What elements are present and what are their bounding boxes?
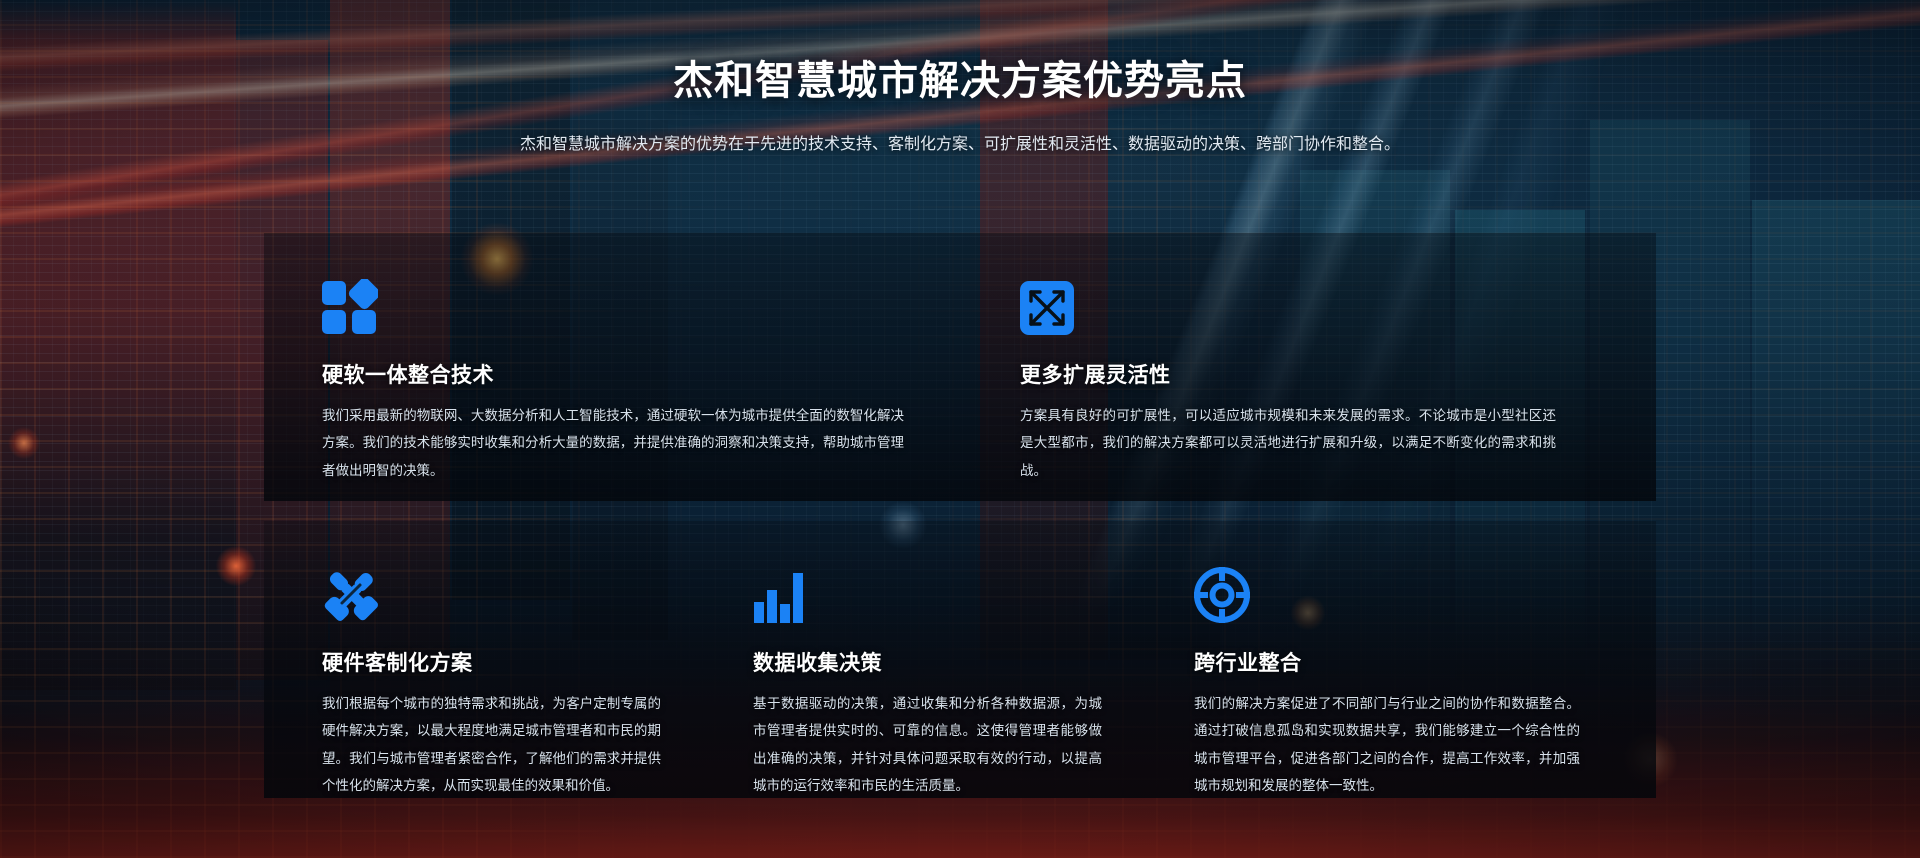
feature-card-title: 硬软一体整合技术: [322, 359, 904, 389]
feature-card-body: 我们采用最新的物联网、大数据分析和人工智能技术，通过硬软一体为城市提供全面的数智…: [322, 402, 904, 484]
four-squares-icon: [322, 273, 904, 335]
feature-card-body: 方案具有良好的可扩展性，可以适应城市规模和未来发展的需求。不论城市是小型社区还是…: [1020, 402, 1556, 484]
target-crosshair-icon: [1194, 561, 1580, 623]
feature-card-data-driven-decisions[interactable]: 数据收集决策 基于数据驱动的决策，通过收集和分析各种数据源，为城市管理者提供实时…: [705, 521, 1146, 798]
feature-card-body: 我们的解决方案促进了不同部门与行业之间的协作和数据整合。通过打破信息孤岛和实现数…: [1194, 690, 1580, 799]
feature-card-hardware-software-integration[interactable]: 硬软一体整合技术 我们采用最新的物联网、大数据分析和人工智能技术，通过硬软一体为…: [264, 233, 960, 501]
feature-panel-bottom: 硬件客制化方案 我们根据每个城市的独特需求和挑战，为客户定制专属的硬件解决方案，…: [264, 521, 1656, 798]
crossed-tools-icon: [322, 561, 661, 623]
feature-card-body: 我们根据每个城市的独特需求和挑战，为客户定制专属的硬件解决方案，以最大程度地满足…: [322, 690, 661, 799]
feature-panel-top: 硬软一体整合技术 我们采用最新的物联网、大数据分析和人工智能技术，通过硬软一体为…: [264, 233, 1656, 501]
feature-card-title: 更多扩展灵活性: [1020, 359, 1556, 389]
feature-card-cross-industry-integration[interactable]: 跨行业整合 我们的解决方案促进了不同部门与行业之间的协作和数据整合。通过打破信息…: [1146, 521, 1656, 798]
page-stage: 杰和智慧城市解决方案优势亮点 杰和智慧城市解决方案的优势在于先进的技术支持、客制…: [0, 0, 1920, 858]
feature-card-hardware-customization[interactable]: 硬件客制化方案 我们根据每个城市的独特需求和挑战，为客户定制专属的硬件解决方案，…: [264, 521, 705, 798]
feature-card-title: 跨行业整合: [1194, 647, 1580, 677]
feature-card-body: 基于数据驱动的决策，通过收集和分析各种数据源，为城市管理者提供实时的、可靠的信息…: [753, 690, 1102, 799]
feature-card-scalability[interactable]: 更多扩展灵活性 方案具有良好的可扩展性，可以适应城市规模和未来发展的需求。不论城…: [960, 233, 1656, 501]
hero-section: 杰和智慧城市解决方案优势亮点 杰和智慧城市解决方案的优势在于先进的技术支持、客制…: [0, 48, 1920, 158]
page-subtitle: 杰和智慧城市解决方案的优势在于先进的技术支持、客制化方案、可扩展性和灵活性、数据…: [370, 132, 1550, 158]
feature-card-title: 数据收集决策: [753, 647, 1102, 677]
feature-card-title: 硬件客制化方案: [322, 647, 661, 677]
expand-arrows-icon: [1020, 273, 1556, 335]
bar-chart-icon: [753, 561, 1102, 623]
page-title: 杰和智慧城市解决方案优势亮点: [0, 48, 1920, 106]
